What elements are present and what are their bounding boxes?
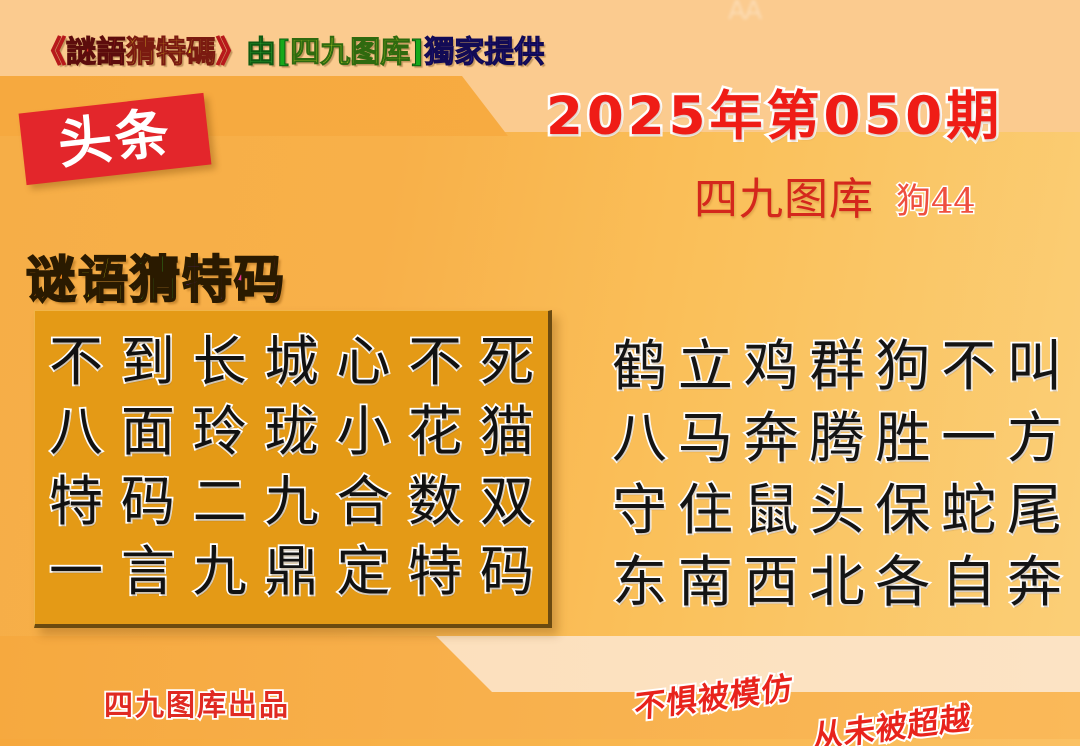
rainbow-title-char-4: 码 xyxy=(234,240,286,312)
left-riddle-char: 九 xyxy=(193,545,247,599)
left-riddle-char: 鼎 xyxy=(264,545,318,599)
right-riddle-char: 腾 xyxy=(809,411,864,466)
right-riddle-char: 各 xyxy=(875,555,930,610)
right-riddle-char: 保 xyxy=(875,483,930,538)
left-riddle-char: 九 xyxy=(264,475,318,529)
top-credit-segment-2: 猜特碼 xyxy=(126,27,216,71)
right-riddle-char: 八 xyxy=(612,411,667,466)
left-riddle-char: 数 xyxy=(408,475,462,529)
right-riddle-char: 头 xyxy=(809,483,864,538)
right-riddle-char: 狗 xyxy=(875,339,930,394)
left-riddle-char: 长 xyxy=(193,335,247,389)
left-riddle-char: 不 xyxy=(408,335,462,389)
right-riddle-char: 群 xyxy=(809,339,864,394)
right-riddle-char: 尾 xyxy=(1007,483,1062,538)
rainbow-title-char-3: 特 xyxy=(182,240,234,312)
issue-title: 2025年第050期 xyxy=(546,74,1003,150)
brand-row: 四九图库 狗44 xyxy=(694,178,976,222)
brand-name-label: 四九图库 xyxy=(694,178,874,222)
right-riddle-char: 方 xyxy=(1007,411,1062,466)
right-riddle-char: 北 xyxy=(809,555,864,610)
left-riddle-char: 二 xyxy=(193,475,247,529)
left-riddle-char: 面 xyxy=(121,405,175,459)
top-credit-line: 《謎語猜特碼》 由 [四九图库] 獨家提供 xyxy=(36,27,544,71)
left-riddle-char: 玲 xyxy=(193,405,247,459)
left-riddle-line: 特码二九合数双 xyxy=(49,467,534,537)
top-credit-segment-4: 由 xyxy=(246,27,276,71)
left-riddle-char: 不 xyxy=(49,335,103,389)
rainbow-title-char-2: 猜 xyxy=(130,240,182,312)
top-credit-segment-7: ] xyxy=(410,35,424,70)
rainbow-title-char-1: 语 xyxy=(78,240,130,312)
right-riddle-char: 不 xyxy=(941,339,996,394)
right-riddle-char: 住 xyxy=(678,483,733,538)
left-riddle-char: 花 xyxy=(408,405,462,459)
left-riddle-char: 言 xyxy=(121,545,175,599)
right-riddle-column: 鹤立鸡群狗不叫八马奔腾胜一方守住鼠头保蛇尾东南西北各自奔 xyxy=(612,330,1062,618)
left-riddle-line: 八面玲珑小花猫 xyxy=(49,397,534,467)
top-credit-segment-8: 獨家提供 xyxy=(424,27,544,71)
right-riddle-char: 自 xyxy=(941,555,996,610)
right-riddle-char: 奔 xyxy=(744,411,799,466)
right-riddle-char: 立 xyxy=(678,339,733,394)
right-riddle-char: 鸡 xyxy=(744,339,799,394)
poster-canvas: AA 《謎語猜特碼》 由 [四九图库] 獨家提供 头条 谜语猜特码 不到长城心不… xyxy=(0,0,1080,746)
left-riddle-box: 不到长城心不死八面玲珑小花猫特码二九合数双一言九鼎定特码 xyxy=(34,310,552,628)
left-riddle-line: 不到长城心不死 xyxy=(49,327,534,397)
top-credit-segment-1: 謎語 xyxy=(66,27,126,71)
right-riddle-char: 胜 xyxy=(875,411,930,466)
left-riddle-char: 合 xyxy=(336,475,390,529)
left-riddle-char: 珑 xyxy=(264,405,318,459)
left-riddle-char: 心 xyxy=(336,335,390,389)
right-riddle-char: 鹤 xyxy=(612,339,667,394)
right-riddle-char: 马 xyxy=(678,411,733,466)
footer-brand-credit: 四九图库出品 xyxy=(104,682,290,724)
left-riddle-char: 一 xyxy=(49,545,103,599)
right-riddle-char: 守 xyxy=(612,483,667,538)
left-riddle-char: 小 xyxy=(336,405,390,459)
zodiac-number-label: 狗44 xyxy=(896,185,976,220)
right-riddle-line: 鹤立鸡群狗不叫 xyxy=(612,330,1062,402)
left-riddle-char: 定 xyxy=(336,545,390,599)
left-riddle-char: 双 xyxy=(480,475,534,529)
left-riddle-char: 八 xyxy=(49,405,103,459)
left-riddle-char: 特 xyxy=(49,475,103,529)
top-credit-segment-5: [ xyxy=(276,35,290,70)
left-riddle-char: 到 xyxy=(121,335,175,389)
left-riddle-char: 死 xyxy=(480,335,534,389)
right-riddle-line: 守住鼠头保蛇尾 xyxy=(612,474,1062,546)
left-riddle-char: 码 xyxy=(121,475,175,529)
left-riddle-char: 猫 xyxy=(480,405,534,459)
right-riddle-char: 叫 xyxy=(1007,339,1062,394)
left-riddle-char: 特 xyxy=(408,545,462,599)
right-riddle-char: 奔 xyxy=(1007,555,1062,610)
right-riddle-char: 鼠 xyxy=(744,483,799,538)
left-riddle-line: 一言九鼎定特码 xyxy=(49,537,534,607)
right-riddle-char: 一 xyxy=(941,411,996,466)
right-riddle-line: 东南西北各自奔 xyxy=(612,546,1062,618)
left-riddle-char: 城 xyxy=(264,335,318,389)
right-riddle-char: 南 xyxy=(678,555,733,610)
right-riddle-char: 西 xyxy=(744,555,799,610)
rainbow-section-title: 谜语猜特码 xyxy=(26,240,286,312)
rainbow-title-char-0: 谜 xyxy=(26,240,78,312)
right-riddle-line: 八马奔腾胜一方 xyxy=(612,402,1062,474)
right-riddle-char: 蛇 xyxy=(941,483,996,538)
top-credit-segment-0: 《 xyxy=(36,27,66,71)
left-riddle-char: 码 xyxy=(480,545,534,599)
right-riddle-char: 东 xyxy=(612,555,667,610)
top-credit-segment-6: 四九图库 xyxy=(290,27,410,71)
top-credit-segment-3: 》 xyxy=(216,27,246,71)
